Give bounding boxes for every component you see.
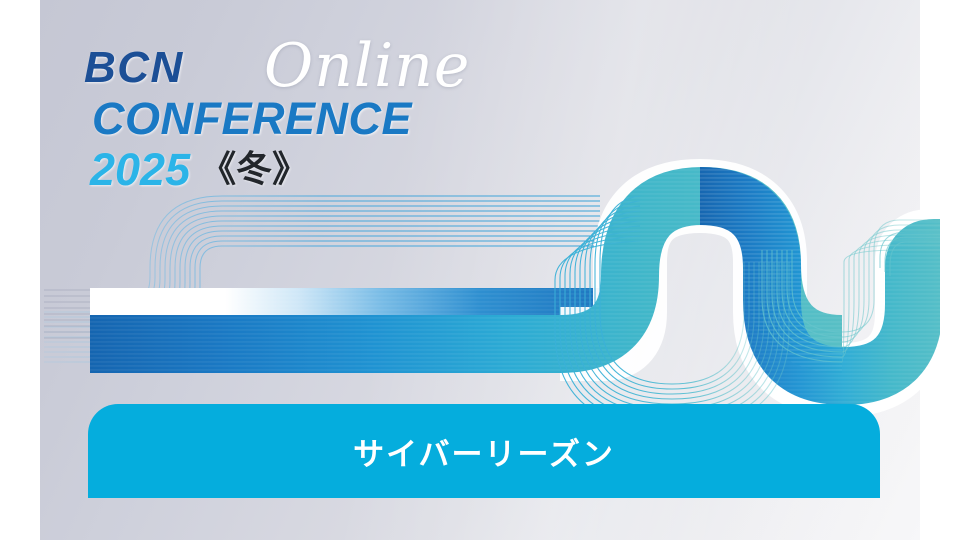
slide-canvas: BCN CONFERENCE 2025 《冬》 Online サイバーリーズン	[0, 0, 960, 540]
edition-year: 2025	[90, 147, 190, 192]
edition-season: 《冬》	[200, 152, 308, 188]
sponsor-name-label: サイバーリーズン	[353, 429, 615, 474]
edition-line: 2025 《冬》	[90, 147, 504, 192]
sponsor-name-panel: サイバーリーズン	[88, 404, 880, 498]
online-script-word: Online	[264, 36, 470, 96]
brand-word-conference: CONFERENCE	[92, 96, 504, 141]
